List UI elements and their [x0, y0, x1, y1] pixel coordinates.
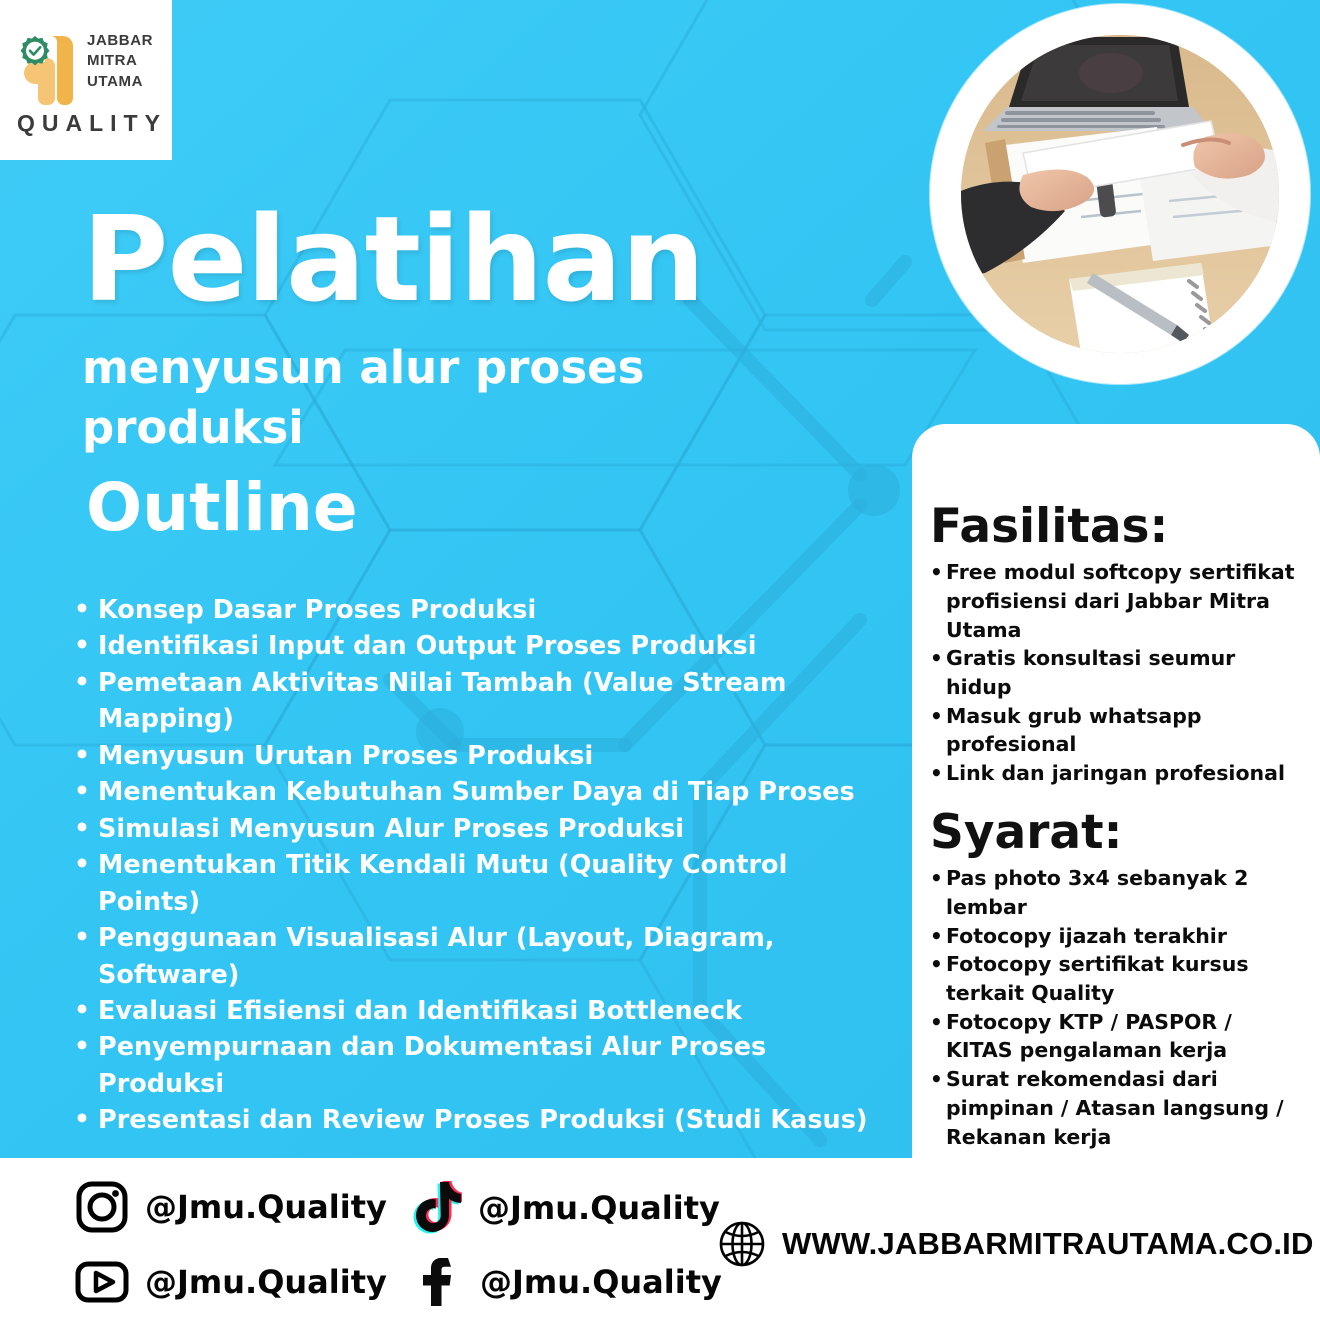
list-item: Presentasi dan Review Proses Produksi (S… — [70, 1102, 870, 1138]
globe-icon — [718, 1220, 766, 1268]
hero-photo — [961, 35, 1279, 353]
list-item: Fotocopy KTP / PASPOR / KITAS pengalaman… — [930, 1008, 1302, 1065]
logo-wordmark: JABBAR MITRA UTAMA — [87, 31, 153, 93]
requirements-section: Syarat: Pas photo 3x4 sebanyak 2 lembar … — [930, 808, 1302, 1151]
list-item: Masuk grub whatsapp profesional — [930, 702, 1302, 759]
logo-quality-text: QUALITY — [17, 110, 167, 137]
instagram-handle: @Jmu.Quality — [145, 1188, 387, 1226]
website-link[interactable]: WWW.JABBARMITRAUTAMA.CO.ID — [718, 1220, 1314, 1268]
logo-word-3: UTAMA — [87, 72, 153, 92]
requirements-list: Pas photo 3x4 sebanyak 2 lembar Fotocopy… — [930, 864, 1302, 1151]
outline-section-label: Outline — [86, 473, 882, 542]
list-item: Menentukan Kebutuhan Sumber Daya di Tiap… — [70, 774, 870, 810]
tiktok-icon — [410, 1180, 462, 1236]
list-item: Fotocopy ijazah terakhir — [930, 922, 1302, 951]
social-tiktok[interactable]: @Jmu.Quality — [410, 1180, 720, 1236]
page-subtitle: menyusun alur proses produksi — [82, 338, 722, 459]
social-facebook[interactable]: @Jmu.Quality — [410, 1255, 722, 1309]
list-item: Penyempurnaan dan Dokumentasi Alur Prose… — [70, 1029, 870, 1102]
tiktok-handle: @Jmu.Quality — [478, 1189, 720, 1227]
list-item: Free modul softcopy sertifikat profisien… — [930, 558, 1302, 644]
list-item: Menentukan Titik Kendali Mutu (Quality C… — [70, 847, 870, 920]
footer-bar: @Jmu.Quality @Jmu.Quality — [0, 1158, 1320, 1320]
list-item: Link dan jaringan profesional — [930, 759, 1302, 788]
list-item: Simulasi Menyusun Alur Proses Produksi — [70, 811, 870, 847]
social-instagram[interactable]: @Jmu.Quality — [75, 1180, 387, 1234]
list-item: Identifikasi Input dan Output Proses Pro… — [70, 628, 870, 664]
info-card: Fasilitas: Free modul softcopy sertifika… — [912, 424, 1320, 1160]
youtube-icon — [75, 1255, 129, 1309]
website-url: WWW.JABBARMITRAUTAMA.CO.ID — [782, 1226, 1314, 1262]
hero-photo-ring — [930, 4, 1310, 384]
list-item: Evaluasi Efisiensi dan Identifikasi Bott… — [70, 993, 870, 1029]
flyer-poster: JABBAR MITRA UTAMA QUALITY — [0, 0, 1320, 1320]
logo-word-2: MITRA — [87, 51, 153, 71]
list-item: Menyusun Urutan Proses Produksi — [70, 738, 870, 774]
youtube-handle: @Jmu.Quality — [145, 1263, 387, 1301]
facebook-handle: @Jmu.Quality — [480, 1263, 722, 1301]
facilities-section: Fasilitas: Free modul softcopy sertifika… — [930, 502, 1302, 788]
facebook-icon — [410, 1255, 464, 1309]
list-item: Konsep Dasar Proses Produksi — [70, 592, 870, 628]
list-item: Surat rekomendasi dari pimpinan / Atasan… — [930, 1065, 1302, 1151]
logo-word-1: JABBAR — [87, 31, 153, 51]
page-title: Pelatihan — [82, 200, 882, 318]
jmu-logo-icon — [15, 30, 83, 112]
facilities-heading: Fasilitas: — [930, 502, 1302, 551]
instagram-icon — [75, 1180, 129, 1234]
requirements-heading: Syarat: — [930, 808, 1302, 857]
outline-list: Konsep Dasar Proses Produksi Identifikas… — [70, 592, 870, 1139]
list-item: Gratis konsultasi seumur hidup — [930, 644, 1302, 701]
facilities-list: Free modul softcopy sertifikat profisien… — [930, 558, 1302, 788]
list-item: Pemetaan Aktivitas Nilai Tambah (Value S… — [70, 665, 870, 738]
list-item: Pas photo 3x4 sebanyak 2 lembar — [930, 864, 1302, 921]
list-item: Fotocopy sertifikat kursus terkait Quali… — [930, 950, 1302, 1007]
brand-logo: JABBAR MITRA UTAMA QUALITY — [0, 0, 172, 160]
list-item: Penggunaan Visualisasi Alur (Layout, Dia… — [70, 920, 870, 993]
hero-heading-block: Pelatihan menyusun alur proses produksi … — [82, 200, 882, 542]
social-youtube[interactable]: @Jmu.Quality — [75, 1255, 387, 1309]
